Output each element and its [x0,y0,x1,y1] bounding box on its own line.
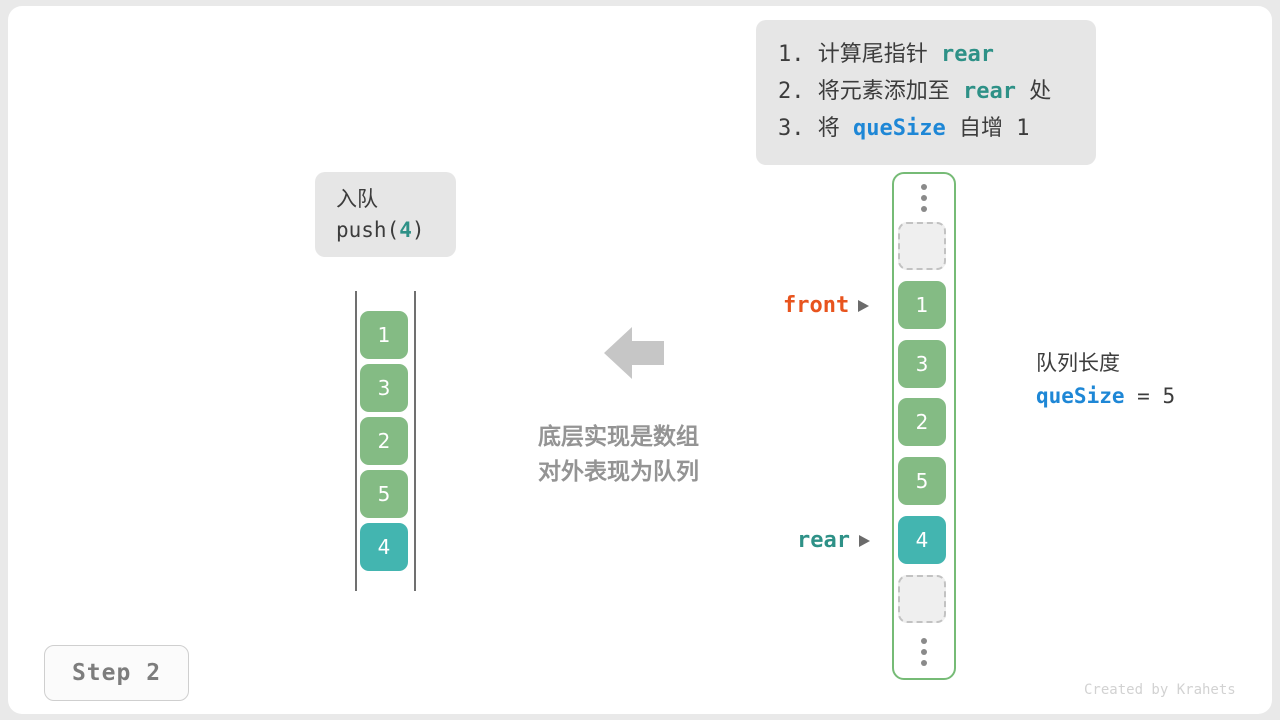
array-cell-highlight: 4 [898,516,946,564]
step-badge: Step 2 [44,645,189,701]
arrow-right-icon [859,535,870,547]
rear-pointer-label: rear [797,528,870,553]
queue-size-info: 队列长度 queSize = 5 [1036,348,1175,413]
slide-inner-frame: 1. 计算尾指针 rear 2. 将元素添加至 rear 处 3. 将 queS… [8,6,1272,714]
slide-canvas: 1. 计算尾指针 rear 2. 将元素添加至 rear 处 3. 将 queS… [0,0,1280,720]
step-line-3-prefix: 3. 将 [778,116,853,141]
step-badge-label: Step 2 [72,660,161,686]
queue-cell: 3 [360,364,408,412]
operation-call: push(4) [336,215,456,246]
step-line-3-code: queSize [853,116,946,141]
operation-call-value: 4 [399,218,412,242]
caption-line-1: 底层实现是数组 [538,420,699,455]
queue-cell: 2 [360,417,408,465]
queue-cell: 1 [360,311,408,359]
queue-rail-left [355,291,357,591]
algorithm-steps-note: 1. 计算尾指针 rear 2. 将元素添加至 rear 处 3. 将 queS… [756,20,1096,165]
step-line-1: 1. 计算尾指针 rear [778,36,1074,73]
step-line-2: 2. 将元素添加至 rear 处 [778,73,1074,110]
rear-pointer-text: rear [797,528,850,553]
transform-arrow-icon [604,324,664,382]
queue-size-var: queSize [1036,384,1125,408]
operation-title: 入队 [336,184,456,215]
arrow-right-icon [858,300,869,312]
step-line-1-prefix: 1. 计算尾指针 [778,42,941,67]
step-line-3-suffix: 自增 1 [946,116,1030,141]
diagram-caption: 底层实现是数组 对外表现为队列 [538,420,699,490]
array-cell: 5 [898,457,946,505]
step-line-3: 3. 将 queSize 自增 1 [778,110,1074,147]
step-line-1-code: rear [941,42,994,67]
queue-size-equals: = 5 [1125,384,1176,408]
array-cell-empty [898,222,946,270]
queue-cell: 5 [360,470,408,518]
queue-rail-right [414,291,416,591]
queue-cell-highlight: 4 [360,523,408,571]
step-line-2-suffix: 处 [1016,79,1051,104]
front-pointer-label: front [783,293,869,318]
vertical-ellipsis-icon-top [916,184,932,212]
queue-size-title: 队列长度 [1036,348,1175,379]
front-pointer-text: front [783,293,849,318]
step-line-2-prefix: 2. 将元素添加至 [778,79,963,104]
operation-label-box: 入队 push(4) [315,172,456,257]
vertical-ellipsis-icon-bottom [916,638,932,666]
array-cell-empty [898,575,946,623]
array-cell: 2 [898,398,946,446]
queue-size-value: queSize = 5 [1036,379,1175,413]
operation-call-prefix: push( [336,218,399,242]
step-line-2-code: rear [963,79,1016,104]
credit-text: Created by Krahets [1084,682,1236,698]
array-cell: 3 [898,340,946,388]
array-cell: 1 [898,281,946,329]
caption-line-2: 对外表现为队列 [538,455,699,490]
operation-call-suffix: ) [412,218,425,242]
